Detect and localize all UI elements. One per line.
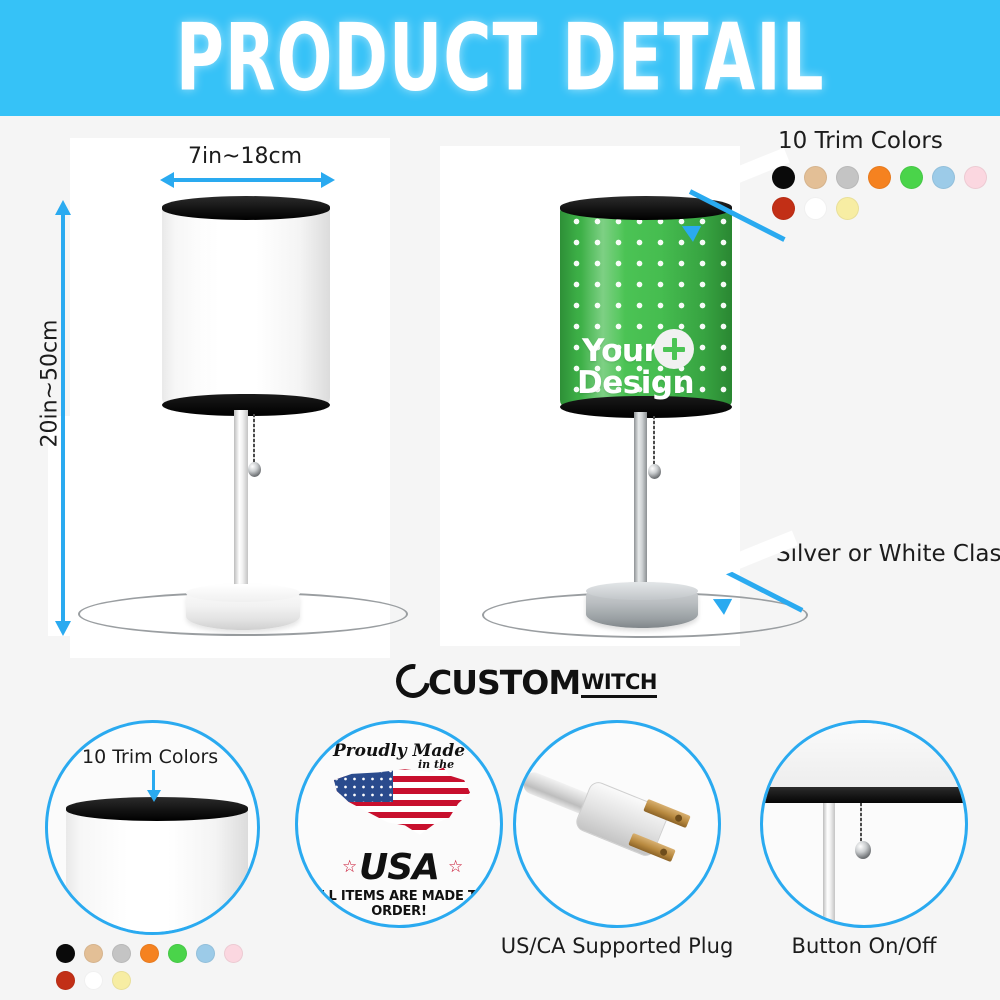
usa-star-right-icon: ☆ bbox=[448, 857, 463, 877]
trim-swatch-dark-red[interactable] bbox=[772, 197, 795, 220]
width-dimension-label: 7in~18cm bbox=[188, 144, 302, 169]
feature-plug-caption: US/CA Supported Plug bbox=[493, 934, 741, 958]
trim-swatch-light-blue[interactable] bbox=[196, 944, 215, 963]
trim-swatch-tan[interactable] bbox=[804, 166, 827, 189]
height-arrow-up-icon bbox=[55, 200, 71, 215]
design-text-line2: Design bbox=[577, 368, 694, 400]
trim-swatch-gray[interactable] bbox=[836, 166, 859, 189]
logo-text-witch: WITCH bbox=[581, 672, 657, 698]
lamp-pole bbox=[823, 803, 835, 928]
feature-circle-switch bbox=[760, 720, 968, 928]
brand-logo: CUSTOM WITCH bbox=[396, 664, 657, 698]
lampshade-edge bbox=[760, 720, 968, 793]
trim-swatch-orange[interactable] bbox=[868, 166, 891, 189]
trim-swatch-black[interactable] bbox=[56, 944, 75, 963]
feature-trim-colors-inner-label: 10 Trim Colors bbox=[82, 746, 218, 768]
trim-swatch-yellow[interactable] bbox=[112, 971, 131, 990]
pull-chain-ball[interactable] bbox=[648, 464, 661, 479]
width-dimension-line bbox=[172, 178, 322, 182]
product-stage: 7in~18cm 20in~50cm Your Design 10 Trim C… bbox=[0, 116, 1000, 712]
trim-colors-swatch-list bbox=[772, 166, 1000, 228]
feature-trim-arrow-icon bbox=[147, 790, 161, 802]
pull-chain-ball[interactable] bbox=[855, 841, 871, 859]
usa-badge-top-text: Proudly Made bbox=[298, 741, 500, 761]
usa-badge-inthe-text: in the bbox=[418, 758, 454, 771]
usa-star-left-icon: ☆ bbox=[342, 857, 357, 877]
lamp-base-silver bbox=[586, 582, 698, 628]
lamp-base-white bbox=[186, 584, 300, 630]
feature-strip: 10 Trim Colors Proudly Made in the USA ☆… bbox=[0, 712, 1000, 1000]
trim-swatch-dark-red[interactable] bbox=[56, 971, 75, 990]
feature-switch-caption: Button On/Off bbox=[740, 934, 988, 958]
base-finish-label: Silver or White Classy bbox=[776, 541, 1000, 567]
trim-top-icon bbox=[162, 196, 330, 220]
width-arrow-right-icon bbox=[321, 172, 335, 188]
trim-swatch-green[interactable] bbox=[168, 944, 187, 963]
page-title: PRODUCT DETAIL bbox=[176, 4, 825, 112]
trim-swatch-tan[interactable] bbox=[84, 944, 103, 963]
trim-swatch-light-blue[interactable] bbox=[932, 166, 955, 189]
pull-chain[interactable] bbox=[653, 416, 655, 468]
usa-badge-word: USA bbox=[298, 847, 500, 888]
design-text-line1: Your bbox=[582, 336, 658, 368]
trim-swatch-orange[interactable] bbox=[140, 944, 159, 963]
trim-colors-label: 10 Trim Colors bbox=[778, 128, 943, 154]
trim-swatch-white[interactable] bbox=[84, 971, 103, 990]
lamp-green: Your Design bbox=[548, 196, 738, 656]
trim-swatch-yellow[interactable] bbox=[836, 197, 859, 220]
lampshade-surface bbox=[162, 206, 330, 404]
trim-swatch-pink[interactable] bbox=[224, 944, 243, 963]
feature-circle-plug bbox=[513, 720, 721, 928]
plus-icon[interactable] bbox=[654, 329, 694, 369]
height-dimension-label: 20in~50cm bbox=[38, 314, 63, 454]
trim-swatch-black[interactable] bbox=[772, 166, 795, 189]
usa-map-icon bbox=[328, 763, 476, 841]
lampshade-green: Your Design bbox=[560, 196, 732, 418]
logo-text-custom: CUSTOM bbox=[428, 668, 580, 698]
trim-swatch-pink[interactable] bbox=[964, 166, 987, 189]
lamp-base-top bbox=[186, 584, 300, 602]
lampshade-white bbox=[162, 196, 330, 416]
height-arrow-down-icon bbox=[55, 621, 71, 636]
lampshade-surface bbox=[66, 807, 248, 935]
usa-stars-icon bbox=[329, 764, 393, 802]
lampshade-white-closeup bbox=[66, 797, 248, 935]
trim-swatch-green[interactable] bbox=[900, 166, 923, 189]
trim-swatch-gray[interactable] bbox=[112, 944, 131, 963]
feature-trim-arrow-line bbox=[152, 770, 155, 792]
feature-circle-made-in-usa: Proudly Made in the USA ☆ ☆ ALL ITEMS AR… bbox=[295, 720, 503, 928]
pull-chain[interactable] bbox=[253, 414, 255, 466]
lamp-base-top bbox=[586, 582, 698, 600]
header-banner: PRODUCT DETAIL bbox=[0, 0, 1000, 116]
pull-chain[interactable] bbox=[860, 803, 862, 845]
width-arrow-left-icon bbox=[160, 172, 174, 188]
pull-chain-ball[interactable] bbox=[248, 462, 261, 477]
feature-trim-swatch-list bbox=[56, 944, 276, 998]
lamp-white bbox=[150, 196, 340, 656]
usa-flag-canton-icon bbox=[329, 764, 393, 802]
trim-swatch-white[interactable] bbox=[804, 197, 827, 220]
usa-badge-subtitle: ALL ITEMS ARE MADE TO ORDER! bbox=[298, 889, 500, 919]
trim-bar-icon bbox=[760, 787, 968, 803]
